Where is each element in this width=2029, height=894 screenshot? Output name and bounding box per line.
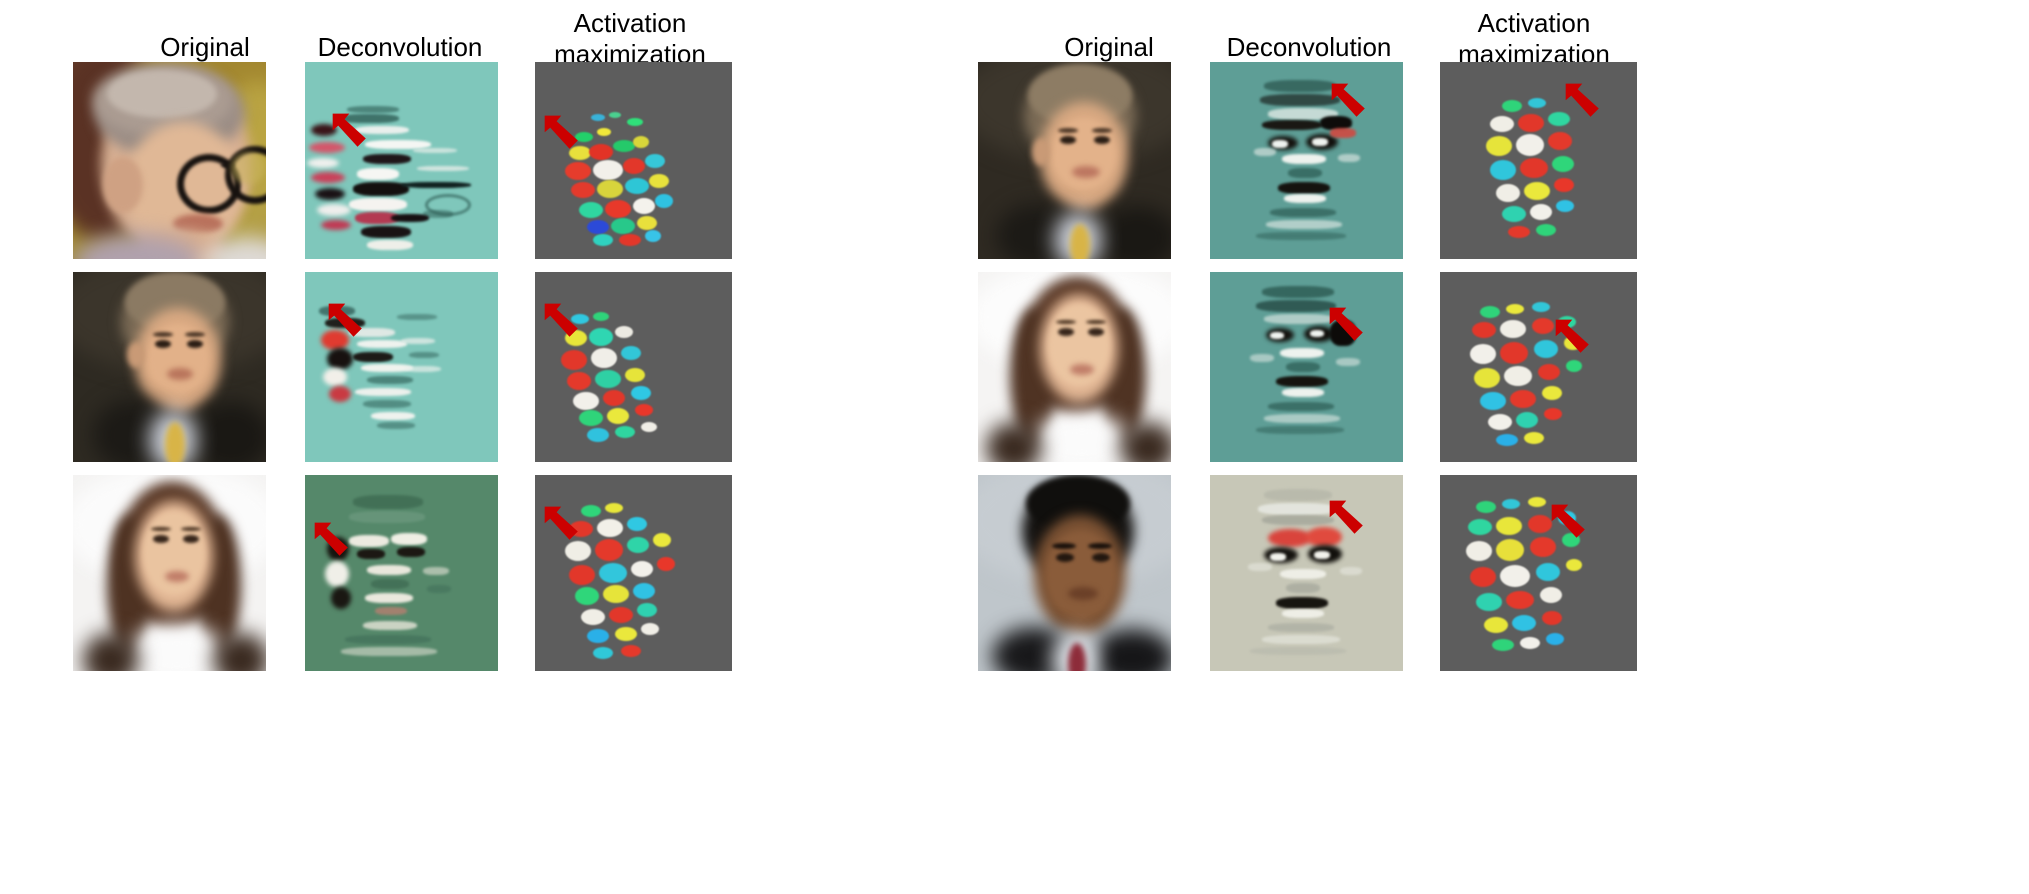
panel-original-right-r1 xyxy=(978,62,1171,259)
panel-deconvolution-left-r3 xyxy=(305,475,498,671)
left-block: Original Deconvolution Activation maximi… xyxy=(0,0,1014,894)
panel-activation-right-r2 xyxy=(1440,272,1637,462)
panel-original-right-r3 xyxy=(978,475,1171,671)
column-header-deconvolution-right: Deconvolution xyxy=(1179,32,1439,63)
column-header-activation-maximization-left: Activation maximization xyxy=(500,8,760,70)
panel-deconvolution-left-r1 xyxy=(305,62,498,259)
panel-deconvolution-right-r3 xyxy=(1210,475,1403,671)
figure-root: Original Deconvolution Activation maximi… xyxy=(0,0,2029,894)
column-header-deconvolution-left: Deconvolution xyxy=(270,32,530,63)
panel-activation-left-r1 xyxy=(535,62,732,259)
panel-original-left-r3 xyxy=(73,475,266,671)
panel-deconvolution-left-r2 xyxy=(305,272,498,462)
panel-original-right-r2 xyxy=(978,272,1171,462)
panel-deconvolution-right-r2 xyxy=(1210,272,1403,462)
panel-activation-left-r2 xyxy=(535,272,732,462)
panel-activation-right-r1 xyxy=(1440,62,1637,259)
column-header-activation-maximization-right: Activation maximization xyxy=(1404,8,1664,70)
right-block: Original Deconvolution Activation maximi… xyxy=(1014,0,2029,894)
panel-deconvolution-right-r1 xyxy=(1210,62,1403,259)
panel-original-left-r1 xyxy=(73,62,266,259)
panel-activation-left-r3 xyxy=(535,475,732,671)
panel-activation-right-r3 xyxy=(1440,475,1637,671)
panel-original-left-r2 xyxy=(73,272,266,462)
